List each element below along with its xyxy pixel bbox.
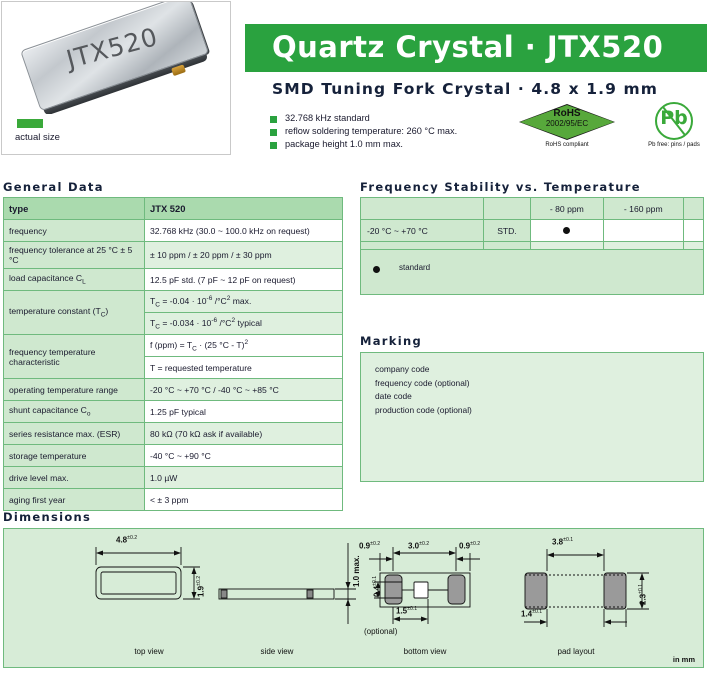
cell-mark [603, 220, 683, 242]
cell-key: storage temperature [4, 445, 145, 467]
rohs-caption: RoHS compliant [519, 142, 615, 148]
list-item: 32.768 kHz standard [270, 113, 530, 124]
bullet-square-icon [270, 142, 277, 149]
title-bar: Quartz Crystal · JTX520 [245, 24, 707, 72]
general-data-table: type JTX 520 frequency 32.768 kHz (30.0 … [3, 197, 343, 511]
cell-header-empty2 [683, 198, 703, 220]
legend-dot-icon [373, 266, 380, 273]
table-row: series resistance max. (ESR) 80 kΩ (70 k… [4, 423, 343, 445]
cell-value: < ± 3 ppm [145, 489, 343, 511]
page-subtitle: SMD Tuning Fork Crystal · 4.8 x 1.9 mm [272, 80, 658, 98]
cell-value: f (ppm) = TC · (25 °C - T)2 [145, 335, 343, 357]
dim-bottom-a: 0.9±0.2 [359, 541, 380, 551]
table-row: frequency tolerance at 25 °C ± 5 °C ± 10… [4, 242, 343, 269]
dimensions-heading: Dimensions [3, 510, 91, 524]
dim-pad-a: 3.8±0.1 [552, 537, 573, 547]
view-caption-side: side view [232, 647, 322, 656]
cell-value: 1.0 µW [145, 467, 343, 489]
bullet-square-icon [270, 116, 277, 123]
dim-bottom-d: 0.4±0.1 [372, 576, 382, 597]
rohs-directive: 2002/95/EC [519, 119, 615, 128]
frequency-stability-heading: Frequency Stability vs. Temperature [360, 180, 641, 194]
pb-label: Pb [655, 107, 693, 129]
dim-bottom-c: 0.9±0.2 [459, 541, 480, 551]
cell-header-empty [361, 198, 484, 220]
bullet-text: 32.768 kHz standard [285, 113, 370, 124]
view-caption-top: top view [104, 647, 194, 656]
dimensions-unit-note: in mm [673, 655, 695, 664]
dim-bottom-b: 3.0±0.2 [408, 541, 429, 551]
cell-key: series resistance max. (ESR) [4, 423, 145, 445]
table-row: frequency 32.768 kHz (30.0 ~ 100.0 kHz o… [4, 220, 343, 242]
pb-free-badge: Pb Pb free: pins / pads [645, 102, 703, 152]
list-item: reflow soldering temperature: 260 °C max… [270, 126, 530, 137]
dim-top-width: 4.8±0.2 [116, 535, 137, 545]
table-row: load capacitance CL 12.5 pF std. (7 pF ~… [4, 269, 343, 291]
pb-caption: Pb free: pins / pads [641, 142, 707, 148]
bullet-text: reflow soldering temperature: 260 °C max… [285, 126, 457, 137]
table-row: - 80 ppm - 160 ppm [361, 198, 704, 220]
cell-key: shunt capacitance Co [4, 401, 145, 423]
cell-key: frequency tolerance at 25 °C ± 5 °C [4, 242, 145, 269]
marking-line: company code [375, 363, 703, 377]
cell-key: load capacitance CL [4, 269, 145, 291]
cell-mark [531, 220, 604, 242]
actual-size-caption: actual size [15, 132, 60, 143]
cell-value: JTX 520 [145, 198, 343, 220]
table-row: aging first year < ± 3 ppm [4, 489, 343, 511]
cell-value: ± 10 ppm / ± 20 ppm / ± 30 ppm [145, 242, 343, 269]
bullet-square-icon [270, 129, 277, 136]
cell-value: 12.5 pF std. (7 pF ~ 12 pF on request) [145, 269, 343, 291]
marking-heading: Marking [360, 334, 422, 348]
table-row: operating temperature range -20 °C ~ +70… [4, 379, 343, 401]
cell-mark [683, 220, 703, 242]
table-row: -20 °C ~ +70 °C STD. [361, 220, 704, 242]
cell-header-160ppm: - 160 ppm [603, 198, 683, 220]
dim-side-height: 1.0 max. [352, 555, 361, 587]
marking-box: company code frequency code (optional) d… [360, 352, 704, 482]
view-caption-pad: pad layout [531, 647, 621, 656]
cell-key: operating temperature range [4, 379, 145, 401]
bullet-text: package height 1.0 mm max. [285, 139, 403, 150]
dim-bottom-e: 1.5±0.1 [396, 606, 417, 616]
marking-line: production code (optional) [375, 404, 703, 418]
cell-value: 32.768 kHz (30.0 ~ 100.0 kHz on request) [145, 220, 343, 242]
table-row: type JTX 520 [4, 198, 343, 220]
cell-value: 80 kΩ (70 kΩ ask if available) [145, 423, 343, 445]
cell-value: TC = -0.04 · 10-6 /°C2 max. [145, 291, 343, 313]
dimensions-box: 4.8±0.2 1.9±0.2 1.0 max. 0.9±0.2 3.0±0.2… [3, 528, 704, 668]
cell-value: T = requested temperature [145, 357, 343, 379]
table-row: storage temperature -40 °C ~ +90 °C [4, 445, 343, 467]
cell-header-80ppm: - 80 ppm [531, 198, 604, 220]
standard-dot-icon [563, 227, 570, 234]
cell-key: frequency [4, 220, 145, 242]
actual-size-swatch [17, 119, 43, 128]
table-row: frequency temperature characteristic f (… [4, 335, 343, 357]
page-title: Quartz Crystal · JTX520 [272, 30, 663, 64]
dim-top-height: 1.9±0.2 [196, 576, 206, 597]
datasheet-page: JTX520 actual size Quartz Crystal · JTX5… [0, 0, 707, 673]
dim-bottom-optional: (optional) [364, 627, 397, 636]
table-row: shunt capacitance Co 1.25 pF typical [4, 401, 343, 423]
rohs-label: RoHS [519, 108, 615, 119]
cell-value: TC = -0.034 · 10-6 /°C2 typical [145, 313, 343, 335]
cell-code: STD. [484, 220, 531, 242]
rohs-badge: RoHS 2002/95/EC RoHS compliant [519, 104, 615, 152]
marking-line: frequency code (optional) [375, 377, 703, 391]
legend-label: standard [399, 263, 430, 272]
marking-line: date code [375, 390, 703, 404]
cell-range: -20 °C ~ +70 °C [361, 220, 484, 242]
cell-value: 1.25 pF typical [145, 401, 343, 423]
frequency-stability-legend: standard [360, 249, 704, 295]
cell-header-empty [484, 198, 531, 220]
feature-bullet-list: 32.768 kHz standard reflow soldering tem… [270, 113, 530, 152]
table-row: drive level max. 1.0 µW [4, 467, 343, 489]
cell-key: frequency temperature characteristic [4, 335, 145, 379]
cell-key: type [4, 198, 145, 220]
view-caption-bottom: bottom view [380, 647, 470, 656]
general-data-heading: General Data [3, 180, 104, 194]
cell-key: aging first year [4, 489, 145, 511]
cell-value: -20 °C ~ +70 °C / -40 °C ~ +85 °C [145, 379, 343, 401]
list-item: package height 1.0 mm max. [270, 139, 530, 150]
dim-pad-c: 1.4±0.1 [521, 609, 542, 619]
dim-pad-b: 2.3±0.1 [638, 584, 648, 605]
table-row: temperature constant (TC) TC = -0.04 · 1… [4, 291, 343, 313]
product-photo: JTX520 [2, 2, 230, 114]
cell-key: temperature constant (TC) [4, 291, 145, 335]
crystal-package-image: JTX520 [20, 2, 212, 114]
product-photo-panel: JTX520 actual size [1, 1, 231, 155]
cell-key: drive level max. [4, 467, 145, 489]
cell-value: -40 °C ~ +90 °C [145, 445, 343, 467]
